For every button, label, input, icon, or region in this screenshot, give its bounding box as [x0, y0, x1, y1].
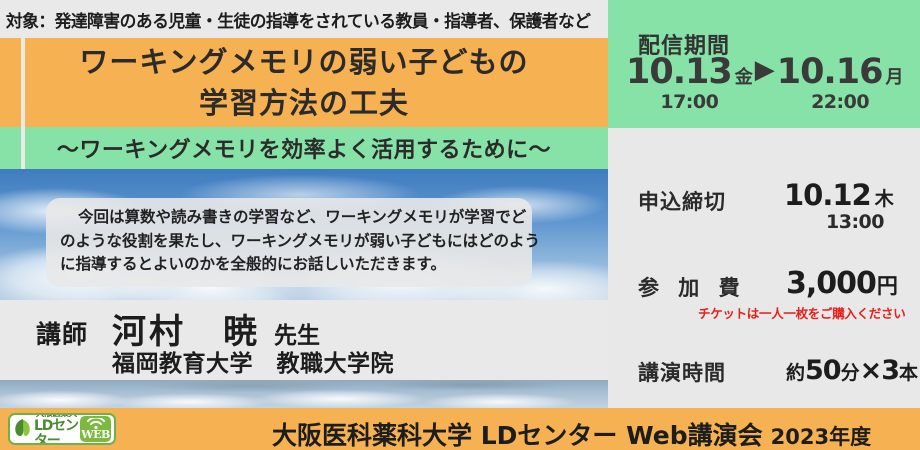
web-badge: WEB	[80, 416, 111, 442]
broadcast-start-date: 10.13	[626, 55, 732, 90]
fee-label: 参 加 費	[638, 272, 746, 302]
description-line-1: 今回は算数や読み書きの学習など、ワーキングメモリが学習でど	[60, 206, 518, 230]
broadcast-start-time: 17:00	[626, 91, 753, 113]
broadcast-start-weekday: 金	[735, 63, 753, 89]
left-column: 対象：発達障害のある児童・生徒の指導をされている教員・指導者、保護者など ワーキ…	[0, 0, 608, 450]
duration-minutes: 50	[805, 355, 841, 386]
duration-count: 3	[881, 355, 899, 386]
broadcast-end-date: 10.16	[777, 55, 883, 90]
deadline-time: 13:00	[826, 211, 884, 233]
audience-text: 対象：発達障害のある児童・生徒の指導をされている教員・指導者、保護者など	[0, 7, 591, 32]
ld-center-logo[interactable]: 大阪医薬大 LDセンター WEB	[8, 413, 116, 445]
duration-label: 講演時間	[638, 357, 726, 387]
duration-count-unit: 本	[899, 362, 918, 384]
fee-note: チケットは一人一枚をご購入ください	[698, 303, 905, 322]
footer-title-main: 大阪医科薬科大学 LDセンター Web講演会	[272, 421, 763, 450]
subtitle-text: 〜ワーキングメモリを効率よく活用するために〜	[57, 132, 551, 164]
duration-value: 約50分×3本	[786, 355, 918, 386]
deadline-weekday: 木	[875, 188, 893, 210]
logo-center-name: LDセンター	[34, 419, 80, 445]
broadcast-end-weekday: 月	[885, 63, 903, 89]
deadline-value: 10.12木	[784, 178, 893, 212]
lecturer-block: 講師 河村 暁 先生 福岡教育大学 教職大学院	[0, 300, 608, 380]
description-line-3: に指導するとよいのかを全般的にお話しいただきます。	[60, 253, 518, 277]
seminar-poster: 対象：発達障害のある児童・生徒の指導をされている教員・指導者、保護者など ワーキ…	[0, 0, 920, 450]
broadcast-start: 10.13金 17:00	[626, 55, 753, 113]
description-box: 今回は算数や読み書きの学習など、ワーキングメモリが学習でど のような役割を果たし…	[46, 198, 532, 287]
subtitle-block: 〜ワーキングメモリを効率よく活用するために〜	[0, 127, 608, 169]
broadcast-end-time: 22:00	[777, 91, 904, 113]
description-line-2: のような役割を果たし、ワーキングメモリが弱い子どもにはどのよう	[60, 230, 518, 254]
broadcast-end: 10.16月 22:00	[777, 55, 904, 113]
title-block: ワーキングメモリの弱い子どもの 学習方法の工夫	[0, 38, 608, 127]
broadcast-period-dates: 10.13金 17:00 ▶ 10.16月 22:00	[626, 55, 903, 113]
leaf-icon	[13, 417, 33, 441]
deadline-date: 10.12	[784, 178, 871, 212]
leaf-icon-svg	[13, 417, 33, 441]
footer-bar: 大阪医科薬科大学 LDセンター Web講演会2023年度	[0, 408, 920, 450]
arrow-right-icon: ▶	[755, 55, 775, 86]
audience-bar: 対象：発達障害のある児童・生徒の指導をされている教員・指導者、保護者など	[0, 0, 608, 38]
right-column: 配信期間 10.13金 17:00 ▶ 10.16月 22:00 申込締切 10	[608, 0, 920, 450]
footer-title: 大阪医科薬科大学 LDセンター Web講演会2023年度	[272, 416, 871, 450]
footer-year: 2023年度	[771, 425, 871, 449]
duration-times-symbol: ×	[860, 355, 882, 386]
broadcast-period-block: 配信期間 10.13金 17:00 ▶ 10.16月 22:00	[608, 0, 920, 128]
title-line-1: ワーキングメモリの弱い子どもの	[79, 42, 528, 82]
sky-photo-strip	[0, 380, 608, 408]
fee-value: 3,000円	[786, 266, 897, 301]
lecturer-affiliation: 福岡教育大学 教職大学院	[112, 344, 394, 378]
web-badge-label: WEB	[81, 429, 110, 440]
logo-text-column: 大阪医薬大 LDセンター	[34, 413, 80, 445]
vertical-divider	[21, 38, 25, 169]
lecturer-label: 講師	[36, 315, 88, 351]
duration-minutes-unit: 分	[841, 362, 860, 384]
fee-unit: 円	[877, 274, 897, 298]
fee-amount: 3,000	[786, 266, 876, 301]
title-line-2: 学習方法の工夫	[199, 83, 409, 123]
deadline-label: 申込締切	[638, 186, 726, 216]
duration-prefix: 約	[786, 362, 805, 384]
